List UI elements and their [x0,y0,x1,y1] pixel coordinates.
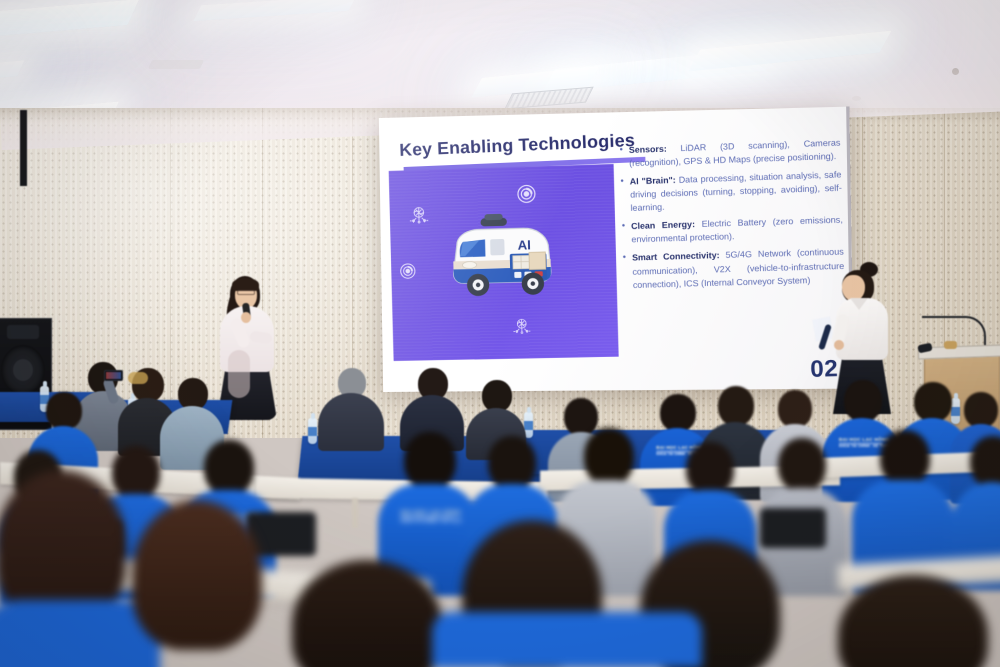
bullet-term: AI "Brain": [630,175,676,187]
head [686,442,734,496]
head [488,436,536,490]
radar-sensor-icon [516,184,537,205]
foreground-person [112,500,282,667]
vip-guest [316,368,386,444]
projection-screen[interactable]: Key Enabling Technologies [379,107,854,392]
head [584,428,634,486]
bullet-item: Sensors: LiDAR (3D scanning), Cameras (r… [619,136,841,170]
head [132,500,262,650]
speaker-horn [7,325,39,339]
brain-network-icon [511,316,532,337]
foreground-shirt [432,612,702,667]
glasses [237,290,255,295]
radar-sensor-icon [399,262,416,279]
head [778,390,812,428]
lectern-object [944,341,957,349]
hand [834,340,844,350]
bullet-item: Smart Connectivity: 5G/4G Network (conti… [623,246,845,292]
head [46,392,82,430]
head [964,392,998,428]
head [0,470,126,620]
bullet-item: Clean Energy: Electric Battery (zero emi… [622,214,844,247]
hand [241,312,251,323]
head [404,432,456,490]
head [718,386,754,426]
hvac-vent-grille [148,60,204,69]
foreground-person [818,575,998,667]
speaker-stand [20,110,27,186]
head [970,436,1000,488]
head [880,430,930,486]
slide-bullet-list: Sensors: LiDAR (3D scanning), Cameras (r… [619,136,845,297]
lecture-hall-scene: Key Enabling Technologies [0,0,1000,667]
suit-jacket [318,393,384,451]
brain-network-icon [408,204,431,227]
slide-title: Key Enabling Technologies [399,130,635,161]
head [778,438,826,492]
slide-illustration-panel: AI [389,164,619,361]
head [844,380,882,422]
autonomous-delivery-van-illustration: AI [438,208,572,312]
bullet-item: AI "Brain": Data processing, situation a… [620,168,842,215]
blouse-shading [228,350,250,398]
svg-text:AI: AI [517,237,531,252]
bullet-term: Smart Connectivity: [632,250,720,263]
presentation-slide: Key Enabling Technologies [379,107,854,392]
head [292,560,442,667]
speaker-cone [1,345,45,395]
head [660,394,696,432]
hair-accessory [128,372,148,384]
head [204,440,254,496]
desk-leg [352,498,358,528]
bullet-term: Clean Energy: [631,219,695,231]
head [914,382,952,422]
shirt-logo-line1: ĐẠI HỌC LẠC HỒNG [401,511,454,517]
bullet-term: Sensors: [629,143,667,155]
head [838,575,988,667]
